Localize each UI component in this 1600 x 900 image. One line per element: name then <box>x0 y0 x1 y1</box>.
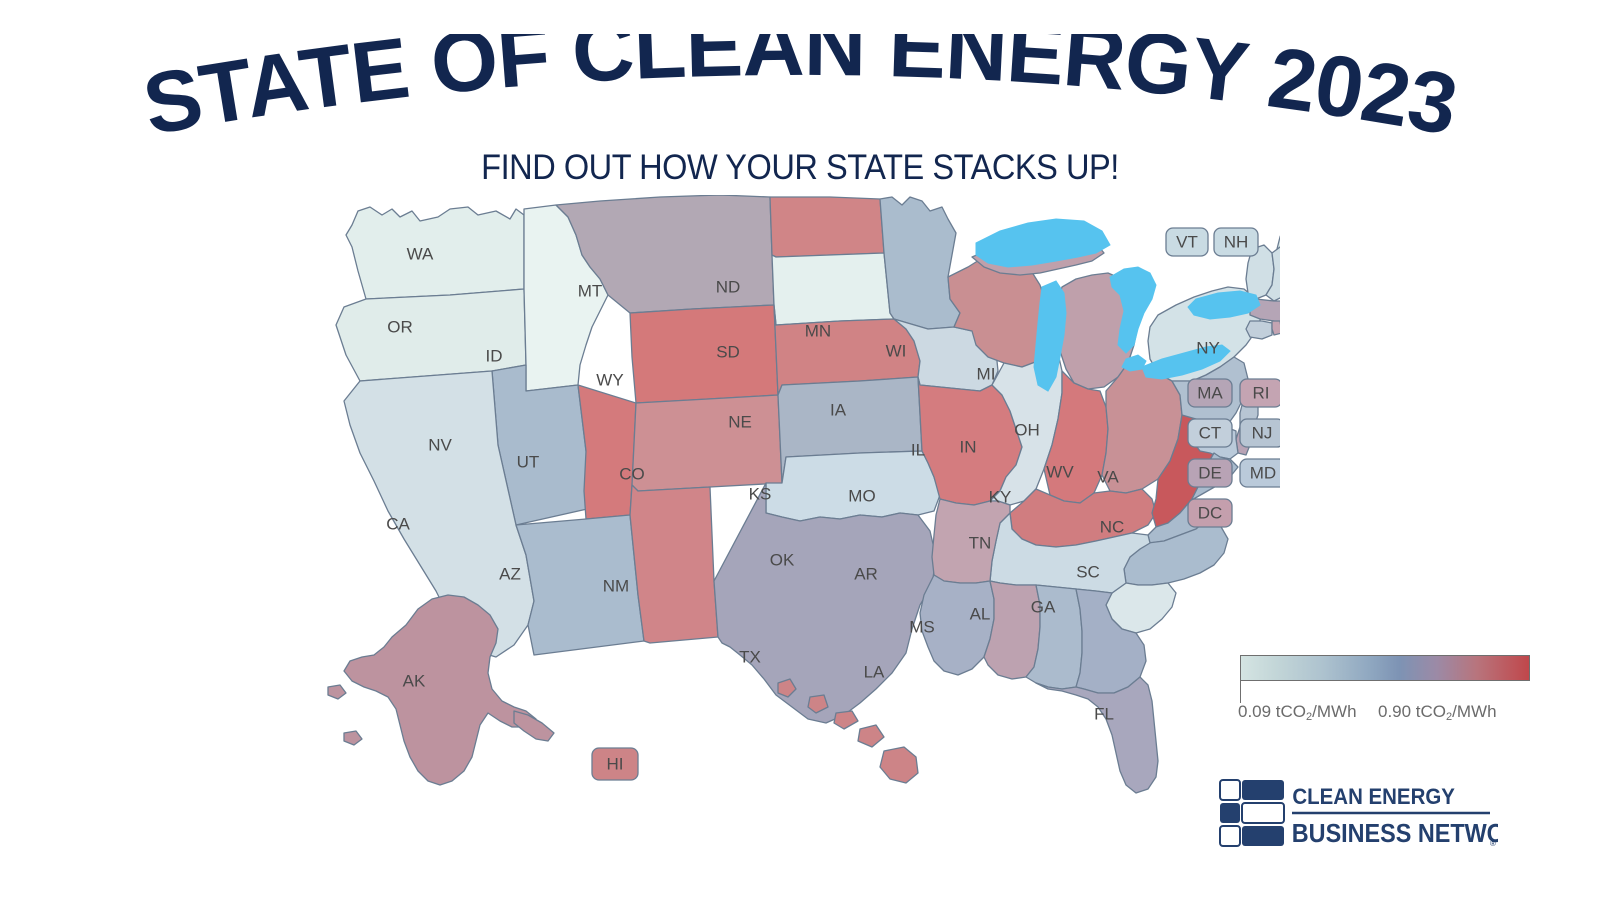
logo-blocks-icon <box>1220 780 1284 846</box>
state-UT[interactable] <box>578 385 636 519</box>
label-WY: WY <box>596 370 623 389</box>
small-state-label-NJ: NJ <box>1252 423 1273 442</box>
us-choropleth-map: WA OR ID MT WY NV CA UT AZ CO NM ND SD N… <box>300 195 1280 805</box>
legend-max-label: 0.90 tCO2/MWh <box>1378 702 1497 722</box>
small-state-box-MA[interactable]: MA <box>1188 379 1232 407</box>
state-CO[interactable] <box>632 395 782 491</box>
page-title: STATE OF CLEAN ENERGY 2023 <box>0 34 1600 144</box>
small-state-box-DC[interactable]: DC <box>1188 499 1232 527</box>
legend-max-sub: 2 <box>1446 711 1452 723</box>
legend-colorbar <box>1240 655 1530 681</box>
small-state-label-VT: VT <box>1176 232 1198 251</box>
legend-max-value: 0.90 tCO <box>1378 702 1446 721</box>
small-state-label-DC: DC <box>1198 503 1223 522</box>
state-RI-shape <box>1272 321 1280 335</box>
legend-min-sub: 2 <box>1306 711 1312 723</box>
state-SD[interactable] <box>772 253 894 325</box>
small-state-box-CT[interactable]: CT <box>1188 419 1232 447</box>
state-AK-isle2 <box>344 731 362 745</box>
state-CT-shape <box>1246 321 1272 339</box>
small-state-box-RI[interactable]: RI <box>1240 379 1280 407</box>
state-OR[interactable] <box>336 289 526 381</box>
cebn-logo[interactable]: CLEAN ENERGY BUSINESS NETWORK ® <box>1218 778 1498 850</box>
svg-text:STATE OF CLEAN ENERGY 2023: STATE OF CLEAN ENERGY 2023 <box>136 34 1463 144</box>
state-AK-isle1 <box>328 685 346 699</box>
hawaii-isle3 <box>834 711 858 729</box>
state-ND[interactable] <box>770 197 884 257</box>
state-FL[interactable] <box>1036 677 1158 793</box>
small-state-box-MD[interactable]: MD <box>1240 459 1280 487</box>
state-AK-aleutians <box>514 711 554 741</box>
poster-root: STATE OF CLEAN ENERGY 2023 FIND OUT HOW … <box>0 0 1600 900</box>
hawaii-isle5 <box>880 747 918 783</box>
logo-line2: BUSINESS NETWORK <box>1292 820 1498 848</box>
small-state-box-NJ[interactable]: NJ <box>1240 419 1280 447</box>
state-TX[interactable] <box>714 483 936 723</box>
legend-max-unit: /MWh <box>1452 702 1496 721</box>
small-state-box-NH[interactable]: NH <box>1214 228 1258 256</box>
small-state-box-DE[interactable]: DE <box>1188 459 1232 487</box>
small-state-label-HI: HI <box>607 754 624 773</box>
legend: 0.09 tCO2/MWh 0.90 tCO2/MWh <box>1210 645 1550 735</box>
small-state-label-CT: CT <box>1199 423 1222 442</box>
legend-tick-min <box>1240 681 1241 703</box>
small-state-label-DE: DE <box>1198 463 1222 482</box>
state-NM[interactable] <box>630 485 718 643</box>
legend-min-unit: /MWh <box>1312 702 1356 721</box>
small-state-label-NH: NH <box>1224 232 1249 251</box>
hawaii-isle4 <box>858 725 884 747</box>
state-WY[interactable] <box>630 305 778 403</box>
state-MN[interactable] <box>880 197 960 329</box>
page-subtitle: FIND OUT HOW YOUR STATE STACKS UP! <box>56 148 1544 188</box>
legend-min-value: 0.09 tCO <box>1238 702 1306 721</box>
page-title-text: STATE OF CLEAN ENERGY 2023 <box>136 34 1463 144</box>
logo-line1: CLEAN ENERGY <box>1292 784 1454 809</box>
state-LA[interactable] <box>920 575 994 675</box>
legend-min-label: 0.09 tCO2/MWh <box>1238 702 1357 722</box>
small-state-label-RI: RI <box>1253 383 1270 402</box>
small-state-label-MA: MA <box>1197 383 1223 402</box>
small-state-label-MD: MD <box>1250 463 1276 482</box>
state-OK[interactable] <box>766 451 940 521</box>
small-state-box-HI[interactable]: HI <box>592 748 638 780</box>
logo-trademark: ® <box>1490 839 1496 848</box>
state-AZ[interactable] <box>516 515 644 655</box>
state-WA[interactable] <box>346 207 524 299</box>
small-state-box-VT[interactable]: VT <box>1166 228 1208 256</box>
